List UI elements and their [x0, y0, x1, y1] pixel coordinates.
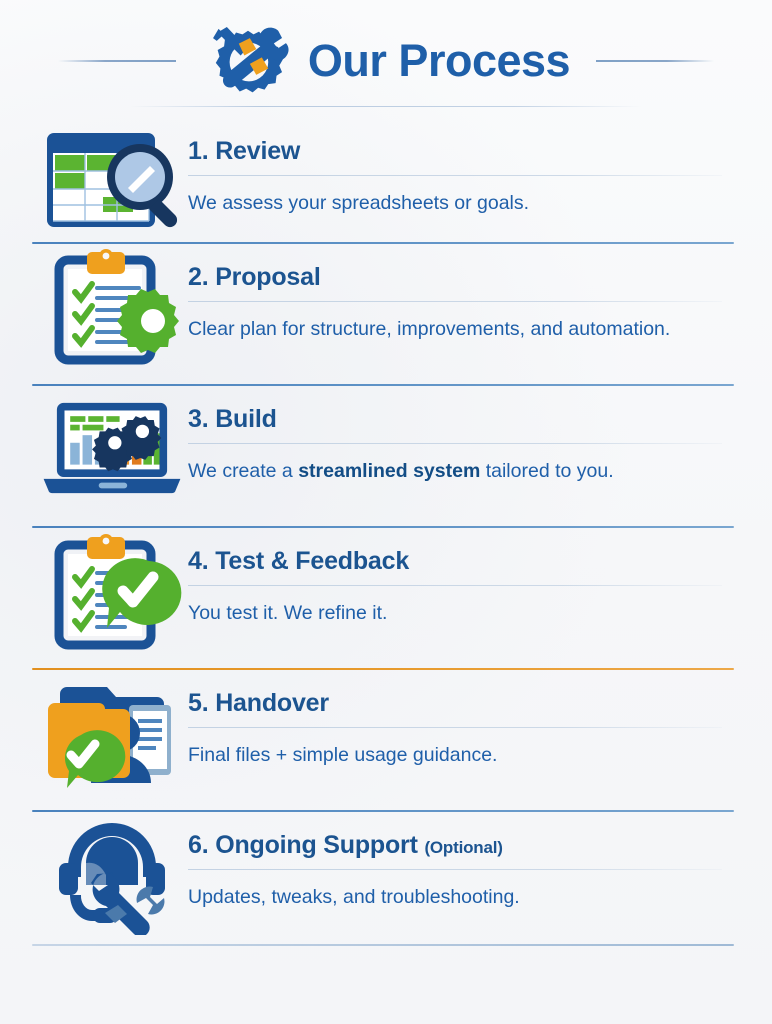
steps-list: 1. Review We assess your spreadsheets or… [0, 118, 772, 946]
step-description: Final files + simple usage guidance. [188, 743, 706, 768]
desc-text: We assess your spreadsheets or goals. [188, 192, 529, 214]
step-item-proposal[interactable]: 2. Proposal Clear plan for structure, im… [0, 244, 772, 384]
gear-wrench-icon [202, 16, 294, 108]
title-underline [188, 301, 722, 302]
step-body: 2. Proposal Clear plan for structure, im… [188, 244, 772, 342]
desc-text-bold: streamlined system [298, 460, 480, 482]
step-description: We assess your spreadsheets or goals. [188, 191, 706, 216]
step-body: 4. Test & Feedback You test it. We refin… [188, 528, 772, 626]
title-underline [188, 869, 722, 870]
step-title-optional-note: (Optional) [424, 838, 502, 857]
infographic-page: Our Process [0, 0, 772, 1024]
step-body: 3. Build We create a streamlined system … [188, 386, 772, 484]
step-title: 2. Proposal [188, 264, 706, 292]
page-header: Our Process [0, 0, 772, 118]
folder-person-document-icon [36, 670, 188, 790]
header-rule-left [58, 60, 176, 62]
desc-text-suffix: tailored to you. [480, 460, 613, 482]
header-bottom-rule [130, 106, 642, 107]
header-rule-right [596, 60, 714, 62]
step-title-text: 6. Ongoing Support [188, 831, 418, 859]
step-item-review[interactable]: 1. Review We assess your spreadsheets or… [0, 118, 772, 242]
step-body: 5. Handover Final files + simple usage g… [188, 670, 772, 768]
clipboard-gear-icon [36, 244, 188, 364]
step-item-build[interactable]: 3. Build We create a streamlined system … [0, 386, 772, 526]
page-title: Our Process [308, 38, 570, 87]
desc-text: Final files + simple usage guidance. [188, 744, 497, 766]
desc-text: Updates, tweaks, and troubleshooting. [188, 886, 520, 908]
section-divider-bottom [32, 944, 734, 946]
step-description: You test it. We refine it. [188, 601, 706, 626]
step-body: 1. Review We assess your spreadsheets or… [188, 118, 772, 216]
step-item-test-feedback[interactable]: 4. Test & Feedback You test it. We refin… [0, 528, 772, 668]
step-item-handover[interactable]: 5. Handover Final files + simple usage g… [0, 670, 772, 810]
desc-text: Clear plan for structure, improvements, … [188, 318, 670, 340]
clipboard-check-bubble-icon [36, 528, 188, 648]
headset-wrench-icon [36, 812, 188, 932]
step-title: 4. Test & Feedback [188, 548, 706, 576]
spreadsheet-magnifier-icon [36, 118, 188, 238]
step-title: 3. Build [188, 406, 706, 434]
laptop-chart-gears-icon [36, 386, 188, 506]
step-description: Clear plan for structure, improvements, … [188, 317, 706, 342]
desc-text-prefix: We create a [188, 460, 298, 482]
desc-text: You test it. We refine it. [188, 602, 387, 624]
step-title: 1. Review [188, 138, 706, 166]
step-item-ongoing-support[interactable]: 6. Ongoing Support (Optional) Updates, t… [0, 812, 772, 944]
step-title: 5. Handover [188, 690, 706, 718]
title-underline [188, 727, 722, 728]
title-underline [188, 443, 722, 444]
step-description: We create a streamlined system tailored … [188, 459, 706, 484]
step-body: 6. Ongoing Support (Optional) Updates, t… [188, 812, 772, 910]
step-title: 6. Ongoing Support (Optional) [188, 832, 706, 860]
title-underline [188, 175, 722, 176]
title-underline [188, 585, 722, 586]
step-description: Updates, tweaks, and troubleshooting. [188, 885, 706, 910]
